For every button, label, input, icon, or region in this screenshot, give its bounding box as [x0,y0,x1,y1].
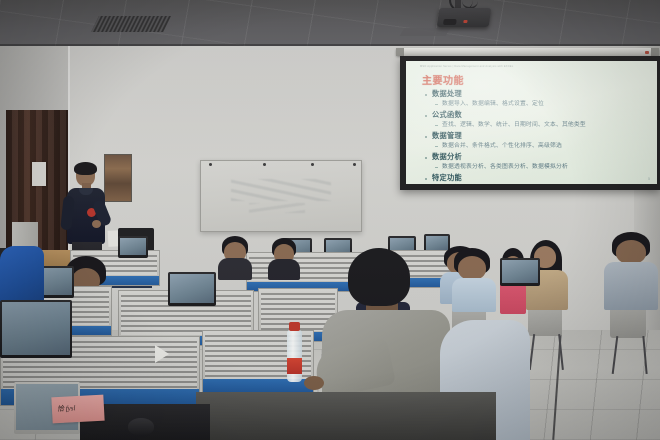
bullet-heading: 数据管理 [424,131,649,142]
screen-case-endcap-left [396,48,404,56]
whiteboard-clip-icon [263,163,266,166]
student-torso [218,258,252,280]
sticky-label: 恰 fysl [51,395,104,424]
projection-screen-surface: MSO Application Series | Data Management… [406,61,657,184]
bullet-subtext: 数据透视表分析、各类图表分析、数据模拟分析 [424,163,649,172]
bullet-subtext: 数据合并、条件格式、个性化排序、高级筛选 [424,142,649,151]
presenter-hair [74,162,97,175]
ceiling-projector [437,8,492,27]
folded-paper [155,345,169,363]
slide-bullet-item: 特定功能 数据保护、数据共享、开发工具 [424,173,649,184]
whiteboard-clip-icon [353,163,356,166]
head-back-of [348,248,410,306]
whiteboard-erased-marks [249,203,305,213]
bullet-subtext: 数据导入、数据编辑、格式设置、定位 [424,100,649,109]
monitor-screen [120,238,146,255]
student-seated [268,238,300,278]
screen-case-indicator-icon [645,51,649,54]
projector-lens-icon [443,19,457,25]
whiteboard-clip-icon [209,163,212,166]
slide-bullet-item: 数据处理 数据导入、数据编辑、格式设置、定位 [424,89,649,109]
bullet-heading: 公式函数 [424,110,649,121]
slide-bullet-item: 数据分析 数据透视表分析、各类图表分析、数据模拟分析 [424,152,649,172]
slide-bullet-list: 数据处理 数据导入、数据编辑、格式设置、定位 公式函数 查找、逻辑、数学、统计、… [424,89,649,184]
student-torso [268,259,300,280]
attendee-head [458,256,486,280]
attendee-head [616,240,646,264]
bullet-heading: 特定功能 [424,173,649,184]
posted-notice-paper [32,162,46,186]
computer-mouse [128,418,154,435]
lab-monitor-foreground [0,300,72,358]
classroom-photo: MSO Application Series | Data Management… [0,0,660,440]
whiteboard-clip-icon [311,163,314,166]
slide-page-number: 5 [648,177,650,181]
water-bottle [287,330,302,382]
desk-surface-foreground [196,392,496,440]
projector-mount-plate [400,28,451,36]
presenter-hand [92,220,101,228]
whiteboard [200,160,362,232]
student-seated [218,236,252,278]
air-vent [91,16,171,32]
hand [304,376,324,390]
slide-bullet-item: 数据管理 数据合并、条件格式、个性化排序、高级筛选 [424,131,649,151]
bottle-cap [289,322,300,331]
screen-case-endcap-right [651,48,659,56]
lab-monitor [118,236,148,258]
projector-led-icon [463,20,467,23]
bullet-heading: 数据处理 [424,89,649,100]
monitor-screen [2,302,70,355]
bullet-subtext: 数据保护、数据共享、开发工具 [424,184,649,185]
sticky-label-text: 恰 fysl [57,403,76,414]
slide-header-text: MSO Application Series | Data Management… [420,65,649,68]
bullet-heading: 数据分析 [424,152,649,163]
slide-title: 主要功能 [422,72,464,87]
whiteboard-erased-marks [231,179,331,201]
lab-monitor [168,272,216,306]
attendee-torso [604,262,658,310]
screen-roller-case [396,48,659,56]
monitor-screen [170,274,214,303]
attendee-grey-shirt [604,232,658,310]
bottle-label [287,358,302,374]
monitor-screen [502,260,538,283]
lab-monitor [500,258,540,286]
slide-bullet-item: 公式函数 查找、逻辑、数学、统计、日期时间、文本、其他类型 [424,110,649,130]
blue-backpack [0,246,44,306]
bullet-subtext: 查找、逻辑、数学、统计、日期时间、文本、其他类型 [424,121,649,130]
